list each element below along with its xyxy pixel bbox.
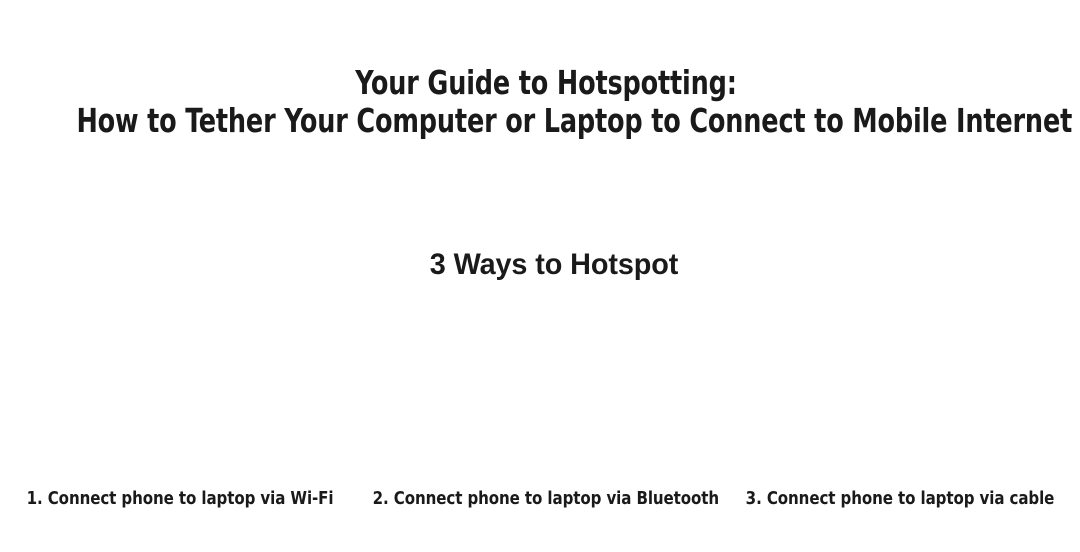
page-title: Your Guide to Hotspotting: How to Tether… xyxy=(76,64,1015,140)
method-illustrations xyxy=(0,280,1080,478)
method-caption-1: 1. Connect phone to laptop via Wi-Fi xyxy=(13,486,348,516)
article-page: Your Guide to Hotspotting: How to Tether… xyxy=(0,0,1080,552)
method-image-3 xyxy=(720,280,1080,478)
section-heading: 3 Ways to Hotspot xyxy=(22,247,1080,283)
method-image-2 xyxy=(360,280,720,478)
page-title-line-1: Your Guide to Hotspotting: xyxy=(76,64,1015,102)
method-image-1 xyxy=(0,280,360,478)
method-caption-row: 1. Connect phone to laptop via Wi-Fi 2. … xyxy=(0,486,1080,516)
page-title-line-2: How to Tether Your Computer or Laptop to… xyxy=(76,102,1015,140)
method-caption-3: 3. Connect phone to laptop via cable xyxy=(733,486,1068,516)
method-caption-2: 2. Connect phone to laptop via Bluetooth xyxy=(373,486,708,516)
